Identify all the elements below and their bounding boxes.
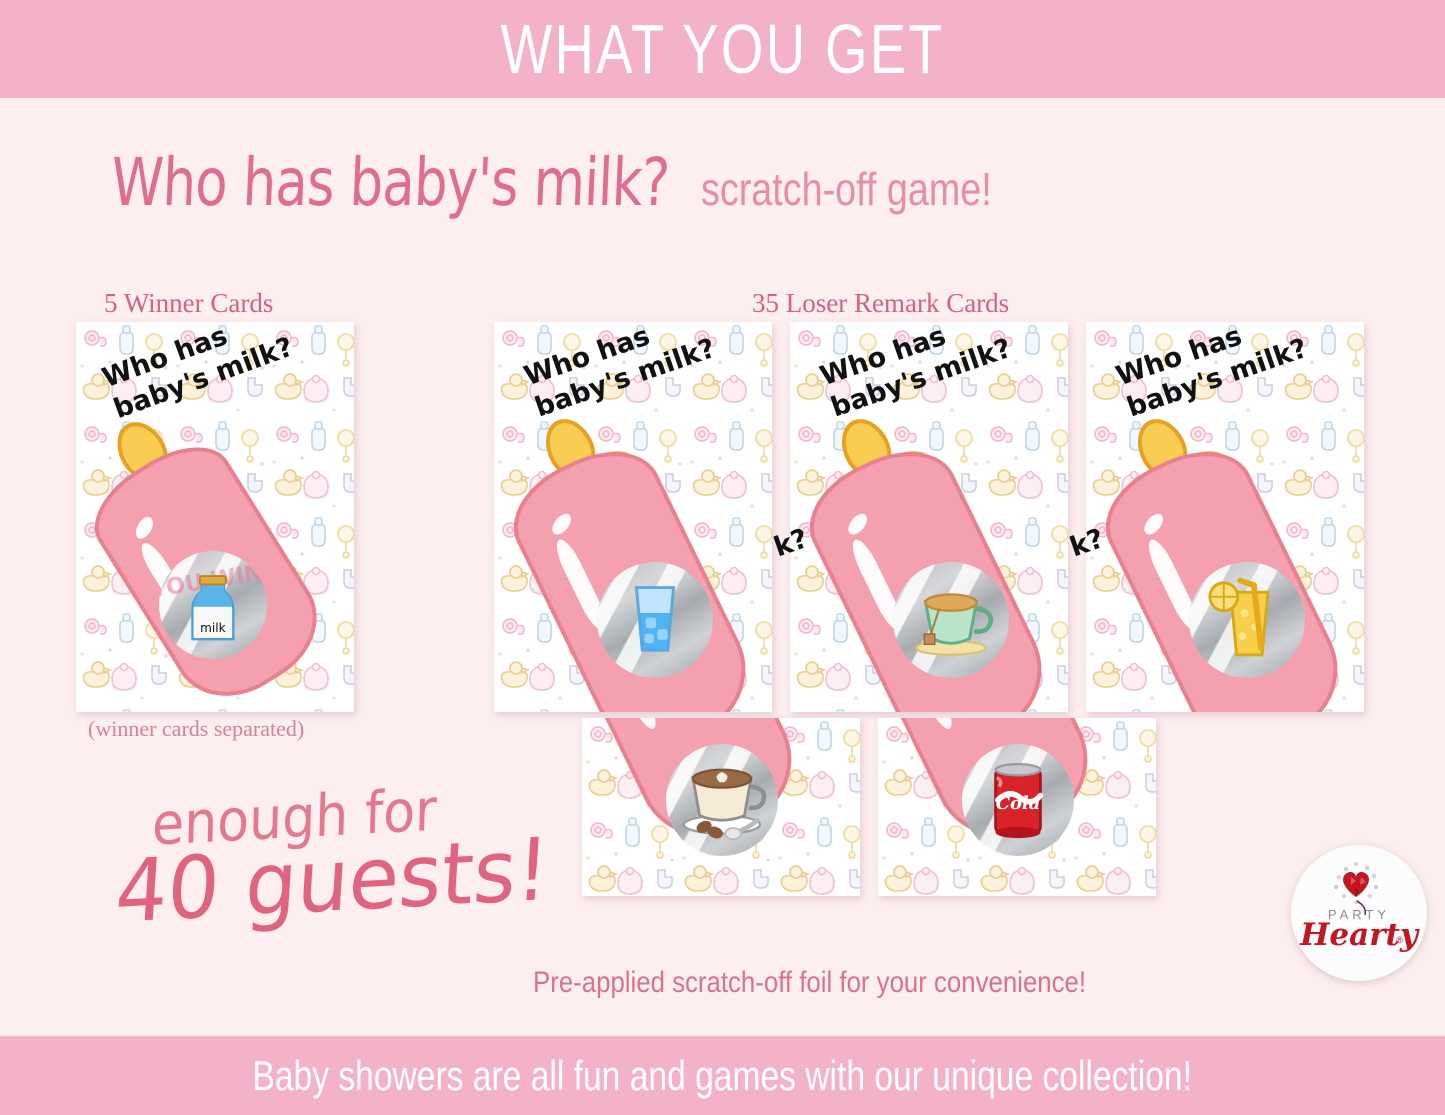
reveal-lemonade [1189,562,1305,678]
scratch-off-cola[interactable]: Cola [962,744,1074,856]
reveal-coffee-cup [666,744,778,856]
header-title: WHAT YOU GET [501,14,945,84]
product-infographic: WHAT YOU GET Who has baby's milk? scratc… [0,0,1445,1115]
reveal-cola-can: Cola [962,744,1074,856]
product-headline: Who has baby's milk? scratch-off game! [110,150,1056,216]
registered-mark-icon: ® [1396,935,1403,945]
scratch-off-water-glass[interactable] [597,562,713,678]
foil-footnote: Pre-applied scratch-off foil for your co… [533,966,1086,1000]
headline-subtitle: scratch-off game! [701,166,992,212]
reveal-tea-cup [893,562,1009,678]
loser-cards-label: 35 Loser Remark Cards [752,288,1009,319]
winner-cards-label: 5 Winner Cards [104,288,273,319]
milk-label: milk [200,621,225,635]
scratch-off-tea-cup[interactable] [893,562,1009,678]
heart-balloon-icon [1324,857,1394,917]
scratch-off-lemonade[interactable] [1189,562,1305,678]
guest-callout-line2: 40 guests! [113,828,552,935]
cola-can-label: Cola [996,793,1041,814]
footer-text: Baby showers are all fun and games with … [253,1055,1192,1097]
header-banner: WHAT YOU GET [0,0,1445,98]
winner-cards-caption: (winner cards separated) [88,716,304,742]
headline-script: Who has baby's milk? [110,150,670,216]
winner-scratch-off[interactable]: YOU WIN! milk [159,551,267,659]
reveal-water-glass [597,562,713,678]
winner-reveal-art: YOU WIN! milk [159,551,267,659]
footer-banner: Baby showers are all fun and games with … [0,1036,1445,1115]
guest-count-callout: enough for 40 guests! [137,775,574,933]
brand-logo: PARTY Hearty ® [1291,845,1427,981]
scratch-off-coffee[interactable] [666,744,778,856]
